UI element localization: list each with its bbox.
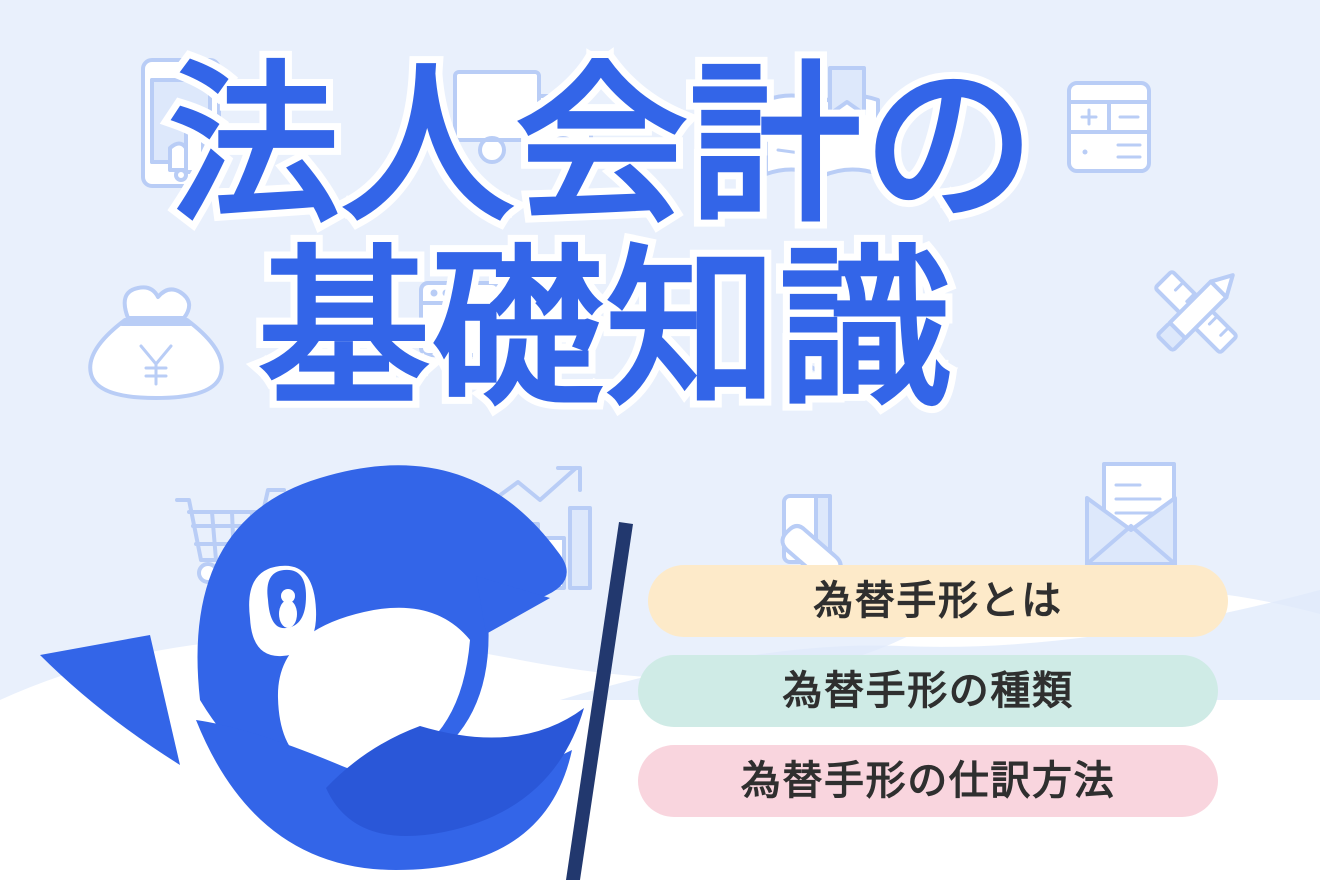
- bird-tail-left: [40, 635, 180, 765]
- title-line-2: 基礎知識: [258, 244, 1320, 416]
- pill-kawase-tegata-shurui[interactable]: 為替手形の種類: [638, 655, 1218, 727]
- title-line-1: 法人会計の: [168, 60, 1320, 232]
- pill-label-2: 為替手形の仕訳方法: [741, 761, 1115, 801]
- bird-eye-highlight-small: [281, 589, 295, 603]
- topic-pill-list: 為替手形とは 為替手形の種類 為替手形の仕訳方法: [638, 565, 1228, 835]
- pill-kawase-tegata-towa[interactable]: 為替手形とは: [648, 565, 1228, 637]
- pill-label-1: 為替手形の種類: [782, 671, 1073, 711]
- pill-label-0: 為替手形とは: [813, 581, 1063, 621]
- poster-title: 法人会計の 基礎知識: [0, 60, 1320, 416]
- bird-eye-highlight: [279, 600, 297, 628]
- pointer-stick: [566, 522, 633, 880]
- poster-canvas: .ol{fill:#ffffff;stroke:#b9cdf6;stroke-w…: [0, 0, 1320, 880]
- pill-kawase-tegata-shiwake[interactable]: 為替手形の仕訳方法: [638, 745, 1218, 817]
